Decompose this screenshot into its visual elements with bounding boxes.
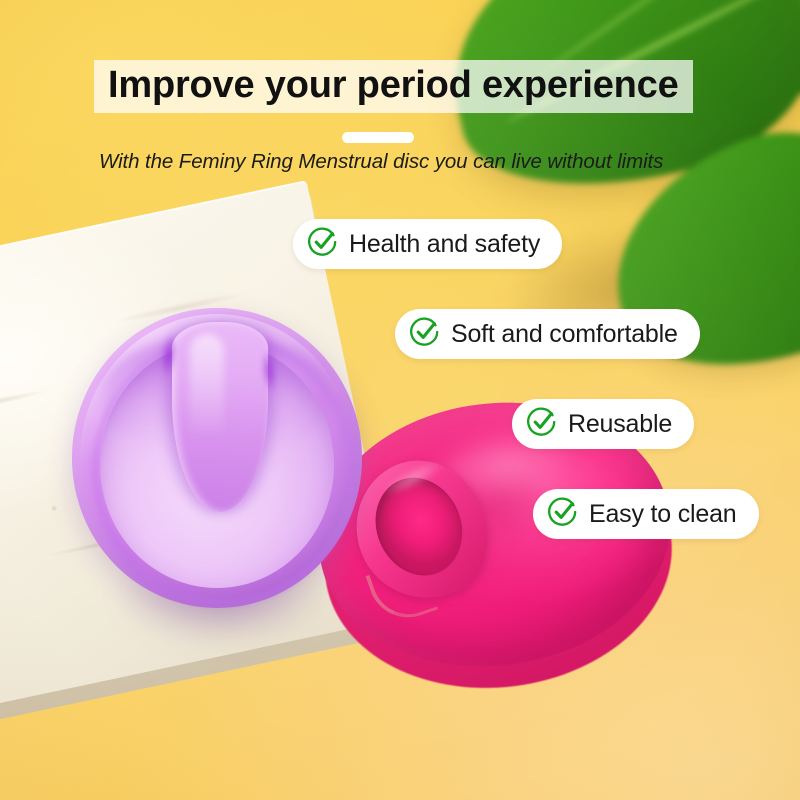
feature-pill-easy-to-clean: Easy to clean — [533, 489, 759, 539]
subtitle: With the Feminy Ring Menstrual disc you … — [99, 150, 663, 174]
page-title: Improve your period experience — [94, 60, 693, 113]
product-promo-poster: Improve your period experience With the … — [0, 0, 800, 800]
feature-pill-health-and-safety: Health and safety — [293, 219, 562, 269]
feature-pill-soft-and-comfortable: Soft and comfortable — [395, 309, 700, 359]
check-circle-icon — [527, 407, 557, 442]
feature-pill-label: Soft and comfortable — [451, 320, 678, 349]
feature-pill-label: Easy to clean — [589, 500, 737, 529]
check-circle-icon — [308, 227, 338, 262]
check-circle-icon — [548, 497, 578, 532]
feature-pill-label: Reusable — [568, 410, 672, 439]
check-circle-icon — [410, 317, 440, 352]
feature-pill-reusable: Reusable — [512, 399, 694, 449]
feature-pill-label: Health and safety — [349, 230, 540, 259]
purple-disc-tab-highlight — [190, 334, 224, 474]
title-divider — [342, 132, 414, 143]
purple-menstrual-disc — [72, 308, 362, 608]
